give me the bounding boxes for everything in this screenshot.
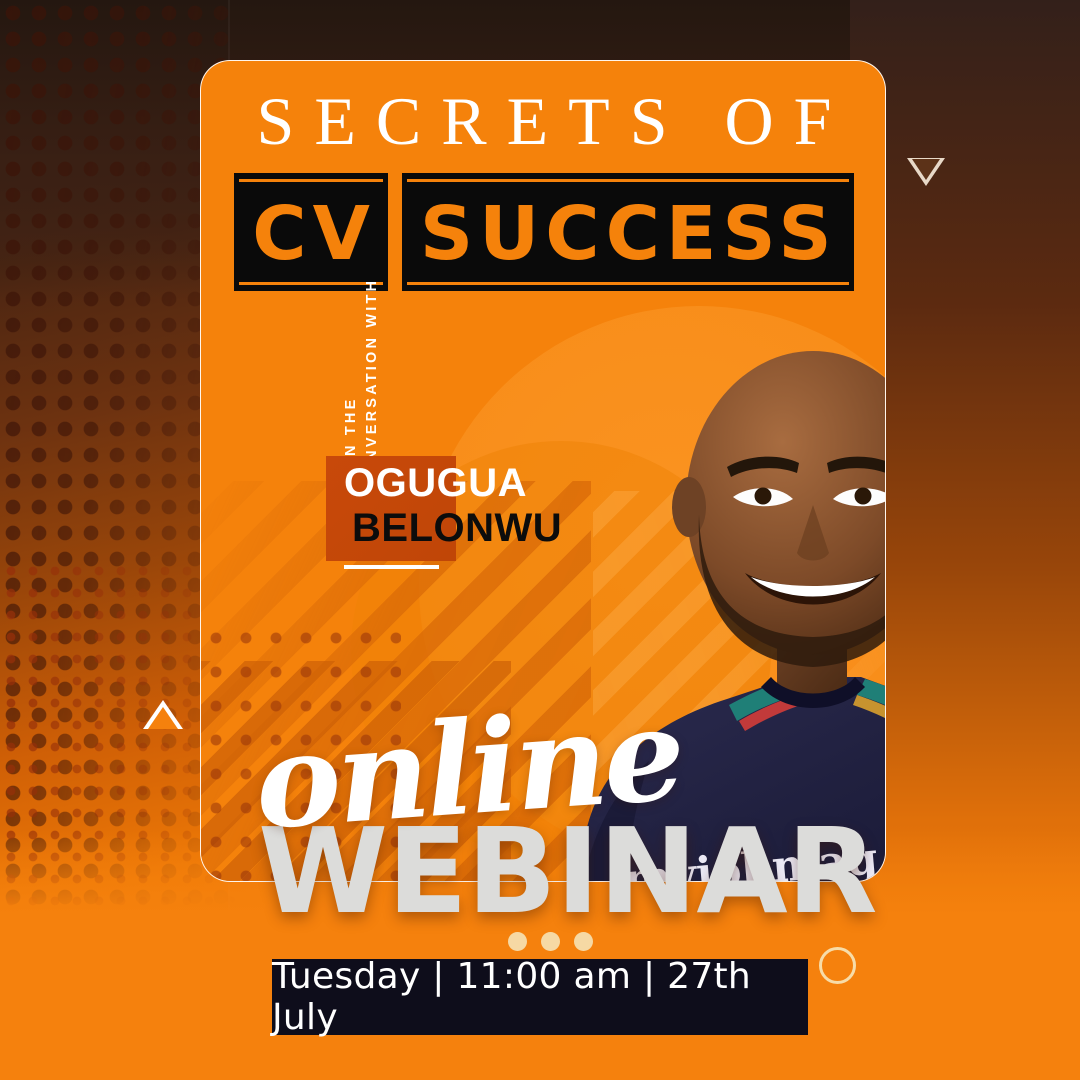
triangle-down-icon bbox=[907, 158, 945, 186]
poster-canvas: SECRETS OF CV SUCCESS bbox=[0, 0, 1080, 1080]
speaker-name-underline bbox=[344, 565, 439, 569]
speaker-last-name: BELONWU bbox=[352, 506, 764, 551]
speaker-name-block: OGUGUA BELONWU bbox=[344, 461, 764, 569]
three-dots-ornament bbox=[508, 932, 593, 951]
join-conversation-line1: JOIN THE bbox=[341, 149, 362, 489]
event-details-bar: Tuesday | 11:00 am | 27th July bbox=[272, 959, 808, 1035]
circle-outline-icon bbox=[819, 947, 856, 984]
join-conversation-tag: JOIN THE CONVERSATION WITH bbox=[293, 109, 483, 299]
join-conversation-line2: CONVERSATION WITH bbox=[362, 149, 383, 489]
speaker-first-name: OGUGUA bbox=[344, 461, 764, 506]
event-script-word: online bbox=[251, 690, 685, 847]
triangle-up-icon bbox=[143, 700, 183, 729]
event-details-text: Tuesday | 11:00 am | 27th July bbox=[272, 956, 808, 1038]
